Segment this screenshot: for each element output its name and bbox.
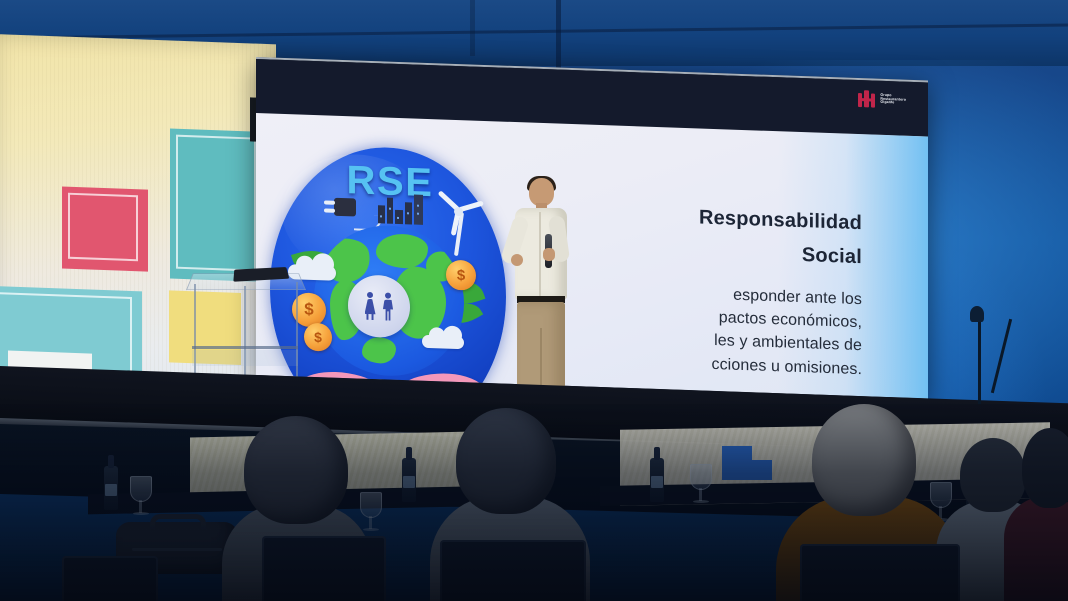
screenshot-root: Grupo Restaurantero Gigante RSE bbox=[0, 0, 1068, 601]
projection-screen: Grupo Restaurantero Gigante RSE bbox=[256, 57, 928, 400]
backdrop-rect-teal-upper bbox=[170, 128, 266, 282]
building-mark-icon bbox=[858, 90, 875, 108]
slide-text-block: Responsabilidad Social esponder ante los… bbox=[556, 195, 886, 381]
foreground-shadow bbox=[0, 404, 1068, 601]
wall-panel-line bbox=[470, 0, 475, 56]
rse-infographic: RSE bbox=[270, 143, 510, 398]
wall-panel-line bbox=[556, 0, 561, 72]
presenter-head bbox=[529, 178, 554, 206]
slide-body: RSE bbox=[256, 113, 928, 398]
brand-name-line3: Gigante bbox=[880, 101, 906, 106]
coin-dollar-icon: $ bbox=[446, 260, 476, 291]
stage-light-icon bbox=[970, 306, 984, 322]
cloud-icon bbox=[422, 335, 464, 349]
light-stand bbox=[978, 318, 981, 404]
power-plug-icon bbox=[324, 195, 358, 218]
audience-foreground bbox=[0, 404, 1068, 601]
factory-icon bbox=[378, 191, 424, 225]
backdrop-rect-pink bbox=[62, 186, 148, 271]
coin-dollar-icon: $ bbox=[304, 323, 332, 352]
wind-turbine-icon bbox=[438, 195, 480, 256]
brand-logo: Grupo Restaurantero Gigante bbox=[858, 90, 906, 109]
